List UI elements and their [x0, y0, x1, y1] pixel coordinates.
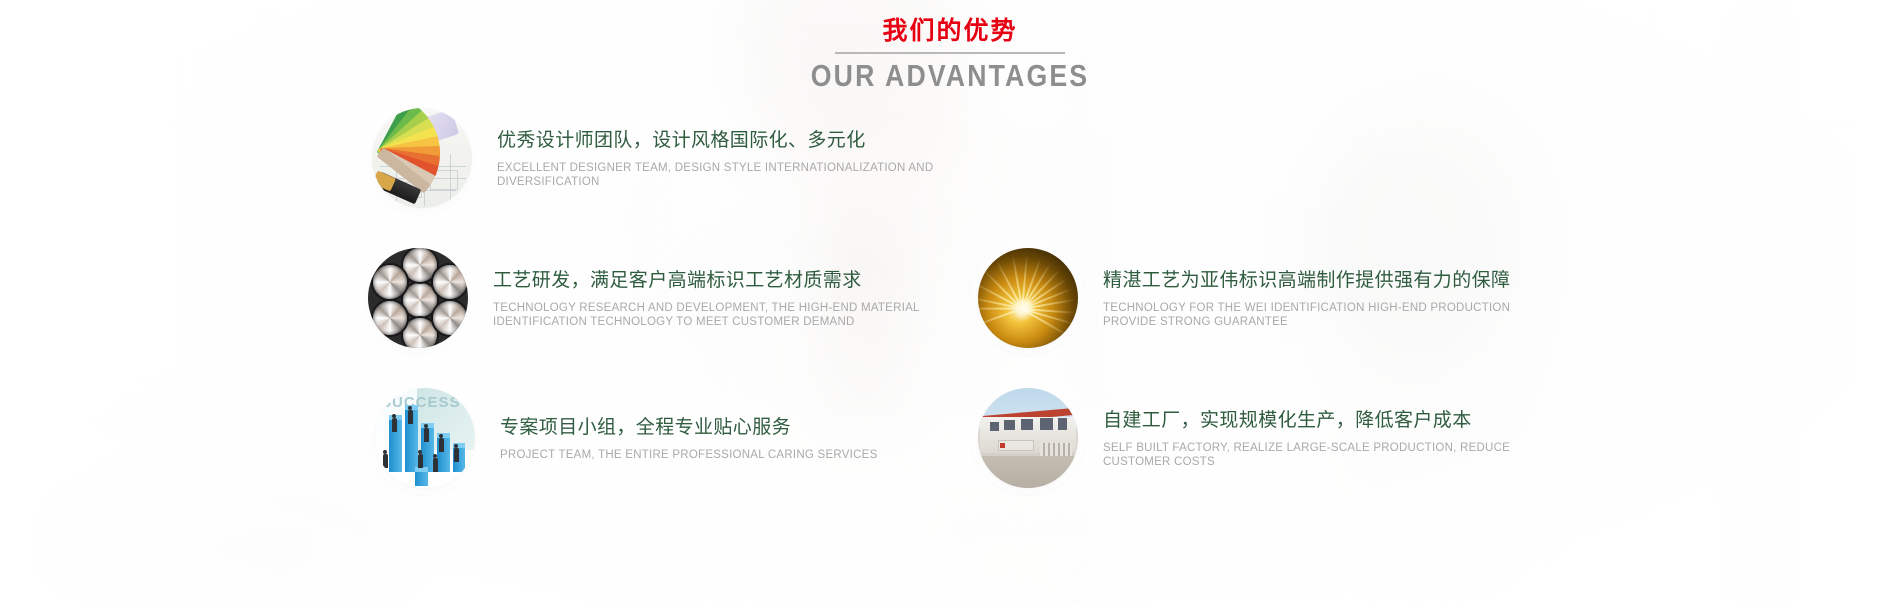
advantage-title-cn: 优秀设计师团队，设计风格国际化、多元化: [497, 128, 957, 154]
advantage-title-cn: 工艺研发，满足客户高端标识工艺材质需求: [493, 268, 953, 294]
advantage-title-cn: 精湛工艺为亚伟标识高端制作提供强有力的保障: [1103, 268, 1563, 294]
metal-tubes-icon: [368, 248, 468, 348]
title-divider: [835, 52, 1065, 54]
factory-building-icon: [978, 388, 1078, 488]
advantage-text: 优秀设计师团队，设计风格国际化、多元化 EXCELLENT DESIGNER T…: [497, 128, 957, 189]
advantage-title-en: SELF BUILT FACTORY, REALIZE LARGE-SCALE …: [1103, 441, 1563, 469]
advantage-title-cn: 专案项目小组，全程专业贴心服务: [500, 415, 878, 441]
advantage-title-en: EXCELLENT DESIGNER TEAM, DESIGN STYLE IN…: [497, 161, 957, 189]
advantage-item-designer-team[interactable]: 优秀设计师团队，设计风格国际化、多元化 EXCELLENT DESIGNER T…: [372, 108, 957, 208]
advantage-text: 精湛工艺为亚伟标识高端制作提供强有力的保障 TECHNOLOGY FOR THE…: [1103, 268, 1563, 329]
business-chart-team-icon: SUCCESS: [375, 388, 475, 488]
advantage-item-project-team[interactable]: SUCCESS: [375, 388, 878, 488]
section-heading: 我们的优势 OUR ADVANTAGES: [0, 14, 1900, 95]
advantage-item-self-built-factory[interactable]: 自建工厂，实现规模化生产，降低客户成本 SELF BUILT FACTORY, …: [978, 388, 1563, 488]
advantage-title-en: PROJECT TEAM, THE ENTIRE PROFESSIONAL CA…: [500, 448, 878, 462]
advantage-title-en: TECHNOLOGY RESEARCH AND DEVELOPMENT, THE…: [493, 301, 953, 329]
section-title-en: OUR ADVANTAGES: [133, 57, 1767, 95]
advantage-item-craftsmanship[interactable]: 精湛工艺为亚伟标识高端制作提供强有力的保障 TECHNOLOGY FOR THE…: [978, 248, 1563, 348]
advantage-text: 专案项目小组，全程专业贴心服务 PROJECT TEAM, THE ENTIRE…: [500, 415, 878, 462]
color-swatch-fan-icon: [372, 108, 472, 208]
welding-sparks-icon: [978, 248, 1078, 348]
advantage-title-cn: 自建工厂，实现规模化生产，降低客户成本: [1103, 408, 1563, 434]
advantage-item-technology-rd[interactable]: 工艺研发，满足客户高端标识工艺材质需求 TECHNOLOGY RESEARCH …: [368, 248, 953, 348]
section-title-cn: 我们的优势: [0, 14, 1900, 48]
advantage-text: 工艺研发，满足客户高端标识工艺材质需求 TECHNOLOGY RESEARCH …: [493, 268, 953, 329]
advantage-text: 自建工厂，实现规模化生产，降低客户成本 SELF BUILT FACTORY, …: [1103, 408, 1563, 469]
advantage-title-en: TECHNOLOGY FOR THE WEI IDENTIFICATION HI…: [1103, 301, 1563, 329]
